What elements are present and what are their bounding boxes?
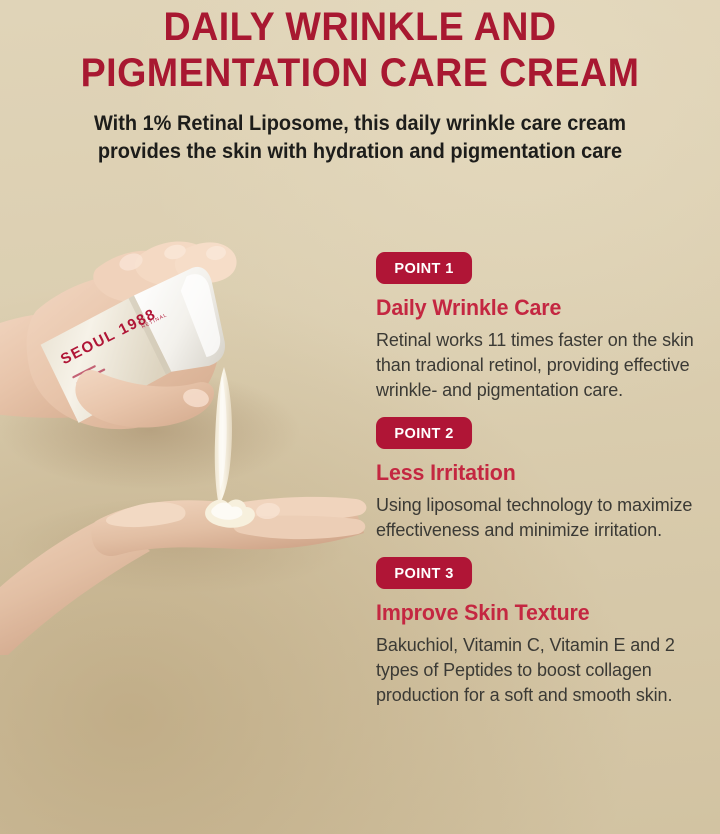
page-title-line-2: PIGMENTATION CARE CREAM — [22, 50, 699, 96]
point-3-body: Bakuchiol, Vitamin C, Vitamin E and 2 ty… — [376, 633, 694, 708]
point-2: POINT 2 Less Irritation Using liposomal … — [376, 417, 706, 543]
point-2-badge: POINT 2 — [376, 417, 472, 449]
point-1-body: Retinal works 11 times faster on the ski… — [376, 328, 694, 403]
page-title-line-1: DAILY WRINKLE AND — [22, 4, 699, 50]
product-detail-page: DAILY WRINKLE AND PIGMENTATION CARE CREA… — [0, 0, 720, 834]
upper-hand-illustration: SEOUL 1988 RETINAL — [0, 241, 300, 490]
lower-hand-illustration — [0, 497, 366, 655]
point-1-badge: POINT 1 — [376, 252, 472, 284]
point-1: POINT 1 Daily Wrinkle Care Retinal works… — [376, 252, 706, 403]
point-2-body: Using liposomal technology to maximize e… — [376, 493, 694, 543]
points-list: POINT 1 Daily Wrinkle Care Retinal works… — [376, 252, 706, 708]
point-3: POINT 3 Improve Skin Texture Bakuchiol, … — [376, 557, 706, 708]
point-1-title: Daily Wrinkle Care — [376, 295, 696, 321]
point-3-title: Improve Skin Texture — [376, 600, 696, 626]
header: DAILY WRINKLE AND PIGMENTATION CARE CREA… — [0, 0, 720, 166]
product-photo: SEOUL 1988 RETINAL — [0, 215, 372, 834]
point-3-badge: POINT 3 — [376, 557, 472, 589]
point-2-title: Less Irritation — [376, 460, 696, 486]
page-subtitle: With 1% Retinal Liposome, this daily wri… — [18, 110, 702, 166]
